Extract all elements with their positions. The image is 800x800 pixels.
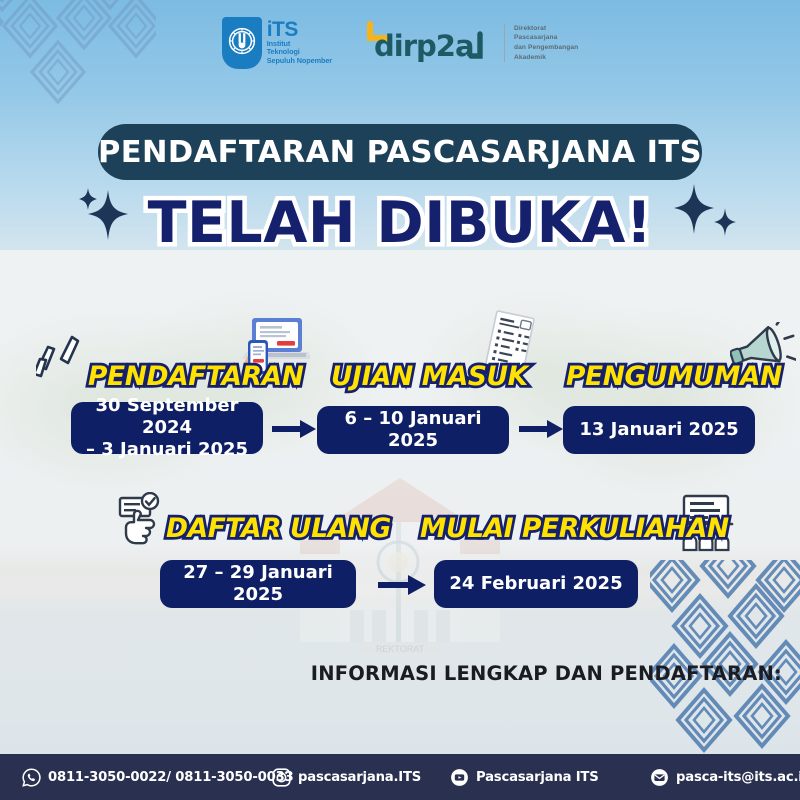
dirp2a-line-2: Pascasarjana <box>514 34 557 41</box>
date-line-2: – 3 Januari 2025 <box>86 439 248 460</box>
email-icon <box>650 768 669 787</box>
dirp2a-line-3: dan Pengembangan <box>514 44 578 51</box>
stage-label-mulai-perkuliahan: MULAI PERKULIAHAN <box>420 513 729 544</box>
stage-label-ujian-masuk: UJIAN MASUK <box>331 361 528 392</box>
footer-contact-bar: 0811-3050-0022/ 0811-3050-0033 pascasarj… <box>0 754 800 800</box>
stage-date-daftar-ulang: 27 – 29 Januari 2025 <box>160 560 356 608</box>
sparkle-icon <box>672 182 738 252</box>
arrow-right-icon <box>378 575 426 595</box>
contact-email-text: pasca-its@its.ac.id <box>676 770 800 785</box>
contact-youtube-text: Pascasarjana ITS <box>476 770 599 785</box>
contact-youtube[interactable]: Pascasarjana ITS <box>450 768 599 787</box>
info-cta-text: INFORMASI LENGKAP DAN PENDAFTARAN: <box>0 662 782 685</box>
scribble-decor-icon <box>36 335 92 385</box>
whatsapp-icon <box>22 768 41 787</box>
its-logo: iTS Institut Teknologi Sepuluh Nopember <box>222 17 332 69</box>
stage-date-mulai-perkuliahan: 24 Februari 2025 <box>434 560 638 608</box>
stage-label-daftar-ulang: DAFTAR ULANG <box>166 513 391 544</box>
youtube-icon <box>450 768 469 787</box>
batik-ornament-bottom-right <box>650 560 800 760</box>
contact-email[interactable]: pasca-its@its.ac.id <box>650 768 800 787</box>
its-line-3: Sepuluh Nopember <box>267 56 332 65</box>
dirp2a-line-4: Akademik <box>514 54 546 61</box>
svg-text:dirp2a: dirp2a <box>374 29 474 63</box>
arrow-right-icon <box>272 420 316 438</box>
date-line-1: 6 – 10 Januari 2025 <box>317 408 509 453</box>
its-emblem-icon <box>222 17 262 69</box>
headline: TELAH DIBUKA! <box>148 190 653 256</box>
date-line-1: 24 Februari 2025 <box>449 573 622 595</box>
contact-whatsapp-text: 0811-3050-0022/ 0811-3050-0033 <box>48 770 294 785</box>
title-pill: PENDAFTARAN PASCASARJANA ITS <box>98 124 702 180</box>
its-acronym: iTS <box>267 20 332 39</box>
poster-canvas: REKTORAT <box>0 0 800 800</box>
arrow-right-icon <box>519 420 563 438</box>
stage-date-pendaftaran: 30 September 2024 – 3 Januari 2025 <box>71 402 263 454</box>
page-title: PENDAFTARAN PASCASARJANA ITS <box>98 135 702 170</box>
contact-instagram[interactable]: pascasarjana.ITS <box>272 768 421 787</box>
dirp2a-line-1: Direktorat <box>514 25 546 32</box>
date-line-1: 27 – 29 Januari 2025 <box>160 562 356 607</box>
stage-date-ujian-masuk: 6 – 10 Januari 2025 <box>317 406 509 454</box>
instagram-icon <box>272 768 291 787</box>
header-logos: iTS Institut Teknologi Sepuluh Nopember … <box>0 12 800 74</box>
stage-date-pengumuman: 13 Januari 2025 <box>563 406 755 454</box>
date-line-1: 13 Januari 2025 <box>579 419 738 441</box>
contact-whatsapp[interactable]: 0811-3050-0022/ 0811-3050-0033 <box>22 768 294 787</box>
contact-instagram-text: pascasarjana.ITS <box>298 770 421 785</box>
stage-label-pendaftaran: PENDAFTARAN <box>88 361 304 392</box>
stage-label-pengumuman: PENGUMUMAN <box>566 361 782 392</box>
dirp2a-logo: dirp2a Direktorat Pascasarjana dan Penge… <box>362 19 578 67</box>
dirp2a-wordmark: dirp2a <box>362 20 496 66</box>
date-line-1: 30 September 2024 <box>96 395 239 438</box>
